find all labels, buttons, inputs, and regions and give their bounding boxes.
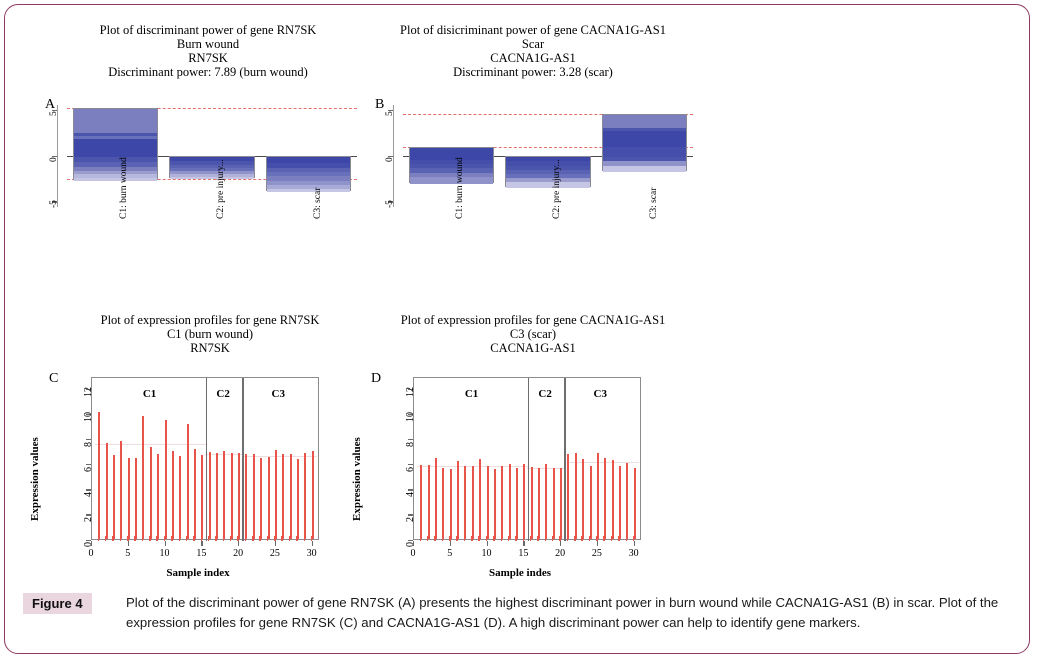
expression-bar <box>545 464 547 539</box>
x-minor-tick <box>574 536 576 541</box>
x-minor-tick <box>296 536 298 541</box>
y-tick-label: 2 <box>83 517 94 522</box>
bar-segment <box>74 139 157 157</box>
x-tick-mark <box>128 541 129 546</box>
x-tick-label: 0 <box>81 548 101 559</box>
group-label: C2 <box>216 388 229 400</box>
y-tick-label: 6 <box>405 467 416 472</box>
figure-caption: Figure 4 Plot of the discriminant power … <box>23 593 1013 614</box>
group-separator <box>206 378 207 541</box>
bar-segment <box>74 178 157 181</box>
expression-bar <box>142 416 144 539</box>
expression-bar <box>538 468 540 539</box>
x-minor-tick <box>478 536 480 541</box>
y-axis-line <box>57 105 58 208</box>
x-tick-label: 15 <box>513 548 533 559</box>
x-minor-tick <box>464 536 466 541</box>
x-minor-tick <box>142 536 144 541</box>
figure-number-badge: Figure 4 <box>23 593 92 614</box>
y-tick-mark <box>86 439 91 440</box>
x-minor-tick <box>252 536 254 541</box>
y-tick-mark <box>408 464 413 465</box>
expression-bar <box>464 466 466 539</box>
bar-segment <box>410 177 493 184</box>
x-minor-tick <box>179 536 181 541</box>
bar-segment <box>603 166 686 172</box>
x-minor-tick <box>193 536 195 541</box>
discriminant-bar <box>266 156 351 191</box>
expression-bar <box>472 466 474 539</box>
x-minor-tick <box>442 536 444 541</box>
x-tick-mark <box>91 541 92 546</box>
x-tick-mark <box>413 541 414 546</box>
expression-bar <box>509 464 511 539</box>
x-tick-label: 20 <box>228 548 248 559</box>
group-label: C3 <box>594 388 607 400</box>
x-tick-mark <box>238 541 239 546</box>
figure-caption-text: Plot of the discriminant power of gene R… <box>126 593 1011 632</box>
expression-bar <box>531 467 533 539</box>
x-minor-tick <box>603 536 605 541</box>
x-minor-tick <box>215 536 217 541</box>
expression-bar <box>553 468 555 539</box>
x-tick-mark <box>201 541 202 546</box>
expression-bar <box>128 458 130 539</box>
x-tick-mark <box>634 541 635 546</box>
x-tick-mark <box>487 541 488 546</box>
bar-segment <box>506 182 589 188</box>
x-minor-tick <box>427 536 429 541</box>
x-tick-label: 20 <box>550 548 570 559</box>
panel-c: Plot of expression profiles for gene RN7… <box>55 313 365 355</box>
panel-d-letter: D <box>371 371 381 387</box>
x-minor-tick <box>626 536 628 541</box>
panel-a-title: Plot of discriminant power of gene RN7SK… <box>53 23 363 79</box>
group-label: C1 <box>143 388 156 400</box>
y-tick-label: 10 <box>405 412 416 422</box>
x-tick-label: 15 <box>191 548 211 559</box>
y-tick-mark <box>86 489 91 490</box>
x-minor-tick <box>471 536 473 541</box>
expression-bar <box>245 454 247 539</box>
x-tick-mark <box>312 541 313 546</box>
x-minor-tick <box>434 536 436 541</box>
discriminant-bar <box>169 156 254 178</box>
x-minor-tick <box>289 536 291 541</box>
figure-image: Plot of discriminant power of gene RN7SK… <box>5 5 1031 580</box>
expression-bar <box>238 453 240 539</box>
y-tick-label: 4 <box>83 492 94 497</box>
expression-bar <box>634 468 636 539</box>
group-separator <box>242 378 243 541</box>
panel-c-letter: C <box>49 371 58 387</box>
y-tick-label: 12 <box>83 387 94 397</box>
x-minor-tick <box>581 536 583 541</box>
y-tick-mark <box>86 464 91 465</box>
x-tick-mark <box>275 541 276 546</box>
x-minor-tick <box>259 536 261 541</box>
x-minor-tick <box>304 536 306 541</box>
category-label: C1: burn wound <box>119 157 129 219</box>
expression-bar <box>304 453 306 540</box>
expression-bar <box>172 451 174 539</box>
x-minor-tick <box>552 536 554 541</box>
panel-d-x-axis-label: Sample indes <box>405 567 635 579</box>
expression-bar <box>297 459 299 539</box>
panel-c-plot: C1C2C3 <box>91 377 319 540</box>
expression-bar <box>420 465 422 539</box>
y-axis-line <box>393 105 394 208</box>
expression-bar <box>179 456 181 539</box>
x-minor-tick <box>245 536 247 541</box>
category-label: C2: pre injury... <box>552 159 562 219</box>
x-minor-tick <box>156 536 158 541</box>
expression-bar <box>582 459 584 539</box>
x-tick-mark <box>523 541 524 546</box>
x-minor-tick <box>493 536 495 541</box>
expression-bar <box>626 463 628 539</box>
expression-bar <box>604 458 606 540</box>
x-minor-tick <box>223 536 225 541</box>
x-minor-tick <box>515 536 517 541</box>
bar-segment <box>410 148 493 160</box>
x-minor-tick <box>508 536 510 541</box>
expression-bar <box>523 464 525 539</box>
expression-bar <box>135 458 137 539</box>
expression-bar <box>275 450 277 539</box>
y-tick-label: 0 <box>83 542 94 547</box>
y-tick-label: 10 <box>83 412 94 422</box>
x-tick-label: 30 <box>302 548 322 559</box>
discriminant-bar <box>73 108 158 180</box>
x-tick-label: 0 <box>403 548 423 559</box>
panel-d-plot: C1C2C3 <box>413 377 641 540</box>
y-tick-label: 2 <box>405 517 416 522</box>
x-tick-label: 10 <box>155 548 175 559</box>
x-tick-mark <box>560 541 561 546</box>
expression-bar <box>312 451 314 539</box>
x-minor-tick <box>501 536 503 541</box>
x-minor-tick <box>420 536 422 541</box>
expression-bar <box>590 466 592 539</box>
expression-bar <box>120 441 122 539</box>
y-tick-label: 0 <box>405 542 416 547</box>
group-label: C3 <box>272 388 285 400</box>
y-tick-label: 0 <box>385 157 395 162</box>
y-tick-label: 5 <box>49 111 59 116</box>
x-minor-tick <box>537 536 539 541</box>
y-tick-label: 12 <box>405 387 416 397</box>
y-tick-label: 8 <box>83 442 94 447</box>
expression-bar <box>457 461 459 539</box>
bar-segment <box>603 147 686 158</box>
expression-bar <box>201 455 203 539</box>
expression-bar <box>487 466 489 539</box>
panel-b-title: Plot of disicriminant power of gene CACN… <box>373 23 693 79</box>
panel-d-title: Plot of expression profiles for gene CAC… <box>373 313 693 355</box>
expression-bar <box>597 453 599 540</box>
group-separator <box>564 378 565 541</box>
expression-bar <box>612 460 614 539</box>
expression-bar <box>442 468 444 539</box>
x-minor-tick <box>456 536 458 541</box>
expression-bar <box>231 453 233 540</box>
expression-bar <box>435 458 437 540</box>
group-label: C2 <box>538 388 551 400</box>
category-label: C3: scar <box>649 188 659 219</box>
x-minor-tick <box>186 536 188 541</box>
expression-bar <box>157 454 159 539</box>
x-minor-tick <box>98 536 100 541</box>
panel-d: Plot of expression profiles for gene CAC… <box>373 313 693 355</box>
discriminant-bar <box>409 147 494 184</box>
expression-bar <box>253 454 255 539</box>
bar-segment <box>267 189 350 192</box>
x-minor-tick <box>230 536 232 541</box>
bar-segment <box>603 115 686 128</box>
expression-bar <box>187 424 189 539</box>
expression-bar <box>150 447 152 539</box>
y-tick-label: 5 <box>385 111 395 116</box>
expression-bar <box>501 466 503 539</box>
expression-bar <box>567 454 569 539</box>
y-tick-mark <box>86 514 91 515</box>
expression-bar <box>575 453 577 540</box>
x-tick-mark <box>165 541 166 546</box>
x-tick-label: 25 <box>265 548 285 559</box>
discriminant-bar <box>505 156 590 187</box>
panel-d-y-axis-label: Expression values <box>351 437 363 521</box>
panel-b-letter: B <box>375 97 384 113</box>
x-minor-tick <box>208 536 210 541</box>
x-minor-tick <box>171 536 173 541</box>
expression-bar <box>450 469 452 539</box>
x-minor-tick <box>149 536 151 541</box>
expression-bar <box>268 457 270 539</box>
panel-a: Plot of discriminant power of gene RN7SK… <box>53 23 363 79</box>
group-mean-line <box>95 444 207 445</box>
group-label: C1 <box>465 388 478 400</box>
y-tick-mark <box>408 514 413 515</box>
expression-bar <box>619 466 621 539</box>
y-tick-label: 6 <box>83 467 94 472</box>
category-label: C1: burn wound <box>455 157 465 219</box>
x-tick-label: 30 <box>624 548 644 559</box>
y-tick-label: 8 <box>405 442 416 447</box>
x-minor-tick <box>611 536 613 541</box>
expression-bar <box>428 465 430 539</box>
expression-bar <box>216 453 218 539</box>
y-tick-mark <box>408 439 413 440</box>
expression-bar <box>290 454 292 539</box>
expression-bar <box>209 452 211 539</box>
figure-page: Plot of discriminant power of gene RN7SK… <box>4 4 1030 654</box>
group-separator <box>528 378 529 541</box>
x-minor-tick <box>105 536 107 541</box>
x-minor-tick <box>112 536 114 541</box>
x-minor-tick <box>134 536 136 541</box>
expression-bar <box>260 458 262 540</box>
expression-bar <box>106 443 108 539</box>
x-minor-tick <box>267 536 269 541</box>
x-minor-tick <box>120 536 122 541</box>
x-minor-tick <box>530 536 532 541</box>
x-minor-tick <box>545 536 547 541</box>
bar-segment <box>170 177 253 179</box>
x-minor-tick <box>618 536 620 541</box>
expression-bar <box>479 459 481 539</box>
discriminant-bar <box>602 114 687 171</box>
category-label: C3: scar <box>313 188 323 219</box>
expression-bar <box>494 469 496 539</box>
expression-bar <box>194 449 196 539</box>
y-tick-label: -5 <box>49 200 59 208</box>
x-tick-label: 10 <box>477 548 497 559</box>
panel-c-y-axis-label: Expression values <box>29 437 41 521</box>
panel-b: Plot of disicriminant power of gene CACN… <box>373 23 693 79</box>
x-minor-tick <box>567 536 569 541</box>
expression-bar <box>223 451 225 539</box>
x-tick-label: 5 <box>118 548 138 559</box>
expression-bar <box>113 455 115 539</box>
y-tick-label: 0 <box>49 157 59 162</box>
category-label: C2: pre injury... <box>216 159 226 219</box>
y-tick-label: -5 <box>385 200 395 208</box>
x-tick-mark <box>450 541 451 546</box>
bar-segment <box>603 131 686 147</box>
x-minor-tick <box>589 536 591 541</box>
expression-bar <box>282 454 284 539</box>
x-tick-label: 25 <box>587 548 607 559</box>
expression-bar <box>98 412 100 539</box>
x-tick-mark <box>597 541 598 546</box>
expression-bar <box>516 468 518 539</box>
x-minor-tick <box>281 536 283 541</box>
expression-bar <box>165 420 167 539</box>
expression-bar <box>560 468 562 539</box>
bar-segment <box>74 109 157 133</box>
panel-c-x-axis-label: Sample index <box>83 567 313 579</box>
panel-c-title: Plot of expression profiles for gene RN7… <box>55 313 365 355</box>
y-tick-label: 4 <box>405 492 416 497</box>
x-tick-label: 5 <box>440 548 460 559</box>
y-tick-mark <box>408 489 413 490</box>
